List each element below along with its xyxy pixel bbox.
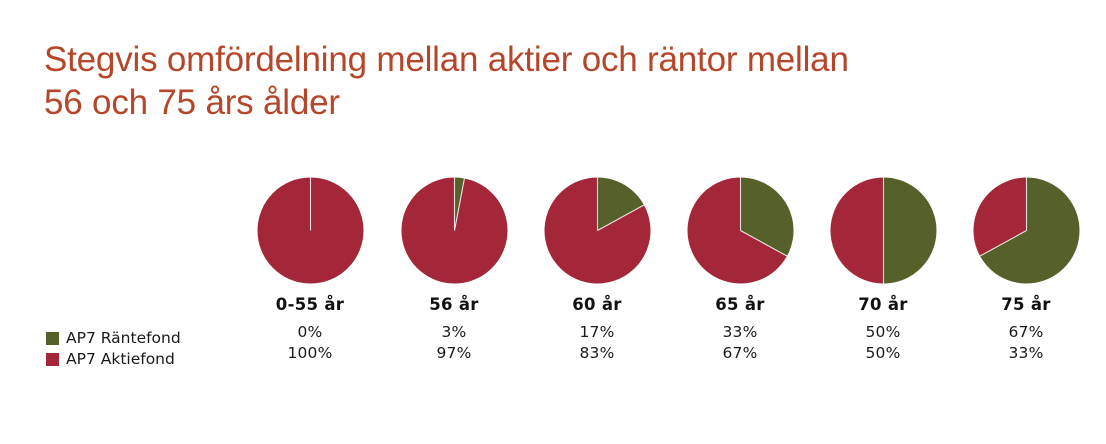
percentage-value: 67% <box>680 343 800 364</box>
data-column: 60 år17%83% <box>537 294 657 364</box>
pie-chart <box>544 177 651 284</box>
percentage-value: 67% <box>966 322 1086 343</box>
pie-chart <box>401 177 508 284</box>
pie-chart <box>687 177 794 284</box>
pie-chart <box>830 177 937 284</box>
column-header-age: 65 år <box>680 294 800 322</box>
pie-slice <box>883 178 936 284</box>
pie-chart <box>973 177 1080 284</box>
page-title: Stegvis omfördelning mellan aktier och r… <box>44 38 1084 124</box>
data-column: 75 år67%33% <box>966 294 1086 364</box>
percentage-value: 50% <box>823 322 943 343</box>
pie-chart <box>257 177 364 284</box>
percentage-value: 0% <box>250 322 370 343</box>
column-header-age: 56 år <box>394 294 514 322</box>
data-table: AP7 RäntefondAP7 Aktiefond 0-55 år0%100%… <box>0 294 1106 384</box>
legend: AP7 RäntefondAP7 Aktiefond <box>46 328 256 370</box>
data-column: 65 år33%67% <box>680 294 800 364</box>
legend-label: AP7 Aktiefond <box>66 350 175 369</box>
percentage-value: 97% <box>394 343 514 364</box>
percentage-value: 3% <box>394 322 514 343</box>
column-header-age: 70 år <box>823 294 943 322</box>
legend-label: AP7 Räntefond <box>66 329 181 348</box>
pie-slice <box>830 178 883 284</box>
data-column: 0-55 år0%100% <box>250 294 370 364</box>
data-column: 70 år50%50% <box>823 294 943 364</box>
percentage-value: 17% <box>537 322 657 343</box>
percentage-value: 33% <box>966 343 1086 364</box>
legend-item: AP7 Räntefond <box>46 328 256 349</box>
percentage-value: 83% <box>537 343 657 364</box>
column-header-age: 75 år <box>966 294 1086 322</box>
legend-color-swatch <box>46 332 59 345</box>
percentage-value: 100% <box>250 343 370 364</box>
column-header-age: 60 år <box>537 294 657 322</box>
legend-color-swatch <box>46 353 59 366</box>
percentage-value: 33% <box>680 322 800 343</box>
data-column: 56 år3%97% <box>394 294 514 364</box>
pie-chart-row <box>0 177 1106 285</box>
legend-item: AP7 Aktiefond <box>46 349 256 370</box>
percentage-value: 50% <box>823 343 943 364</box>
column-header-age: 0-55 år <box>250 294 370 322</box>
